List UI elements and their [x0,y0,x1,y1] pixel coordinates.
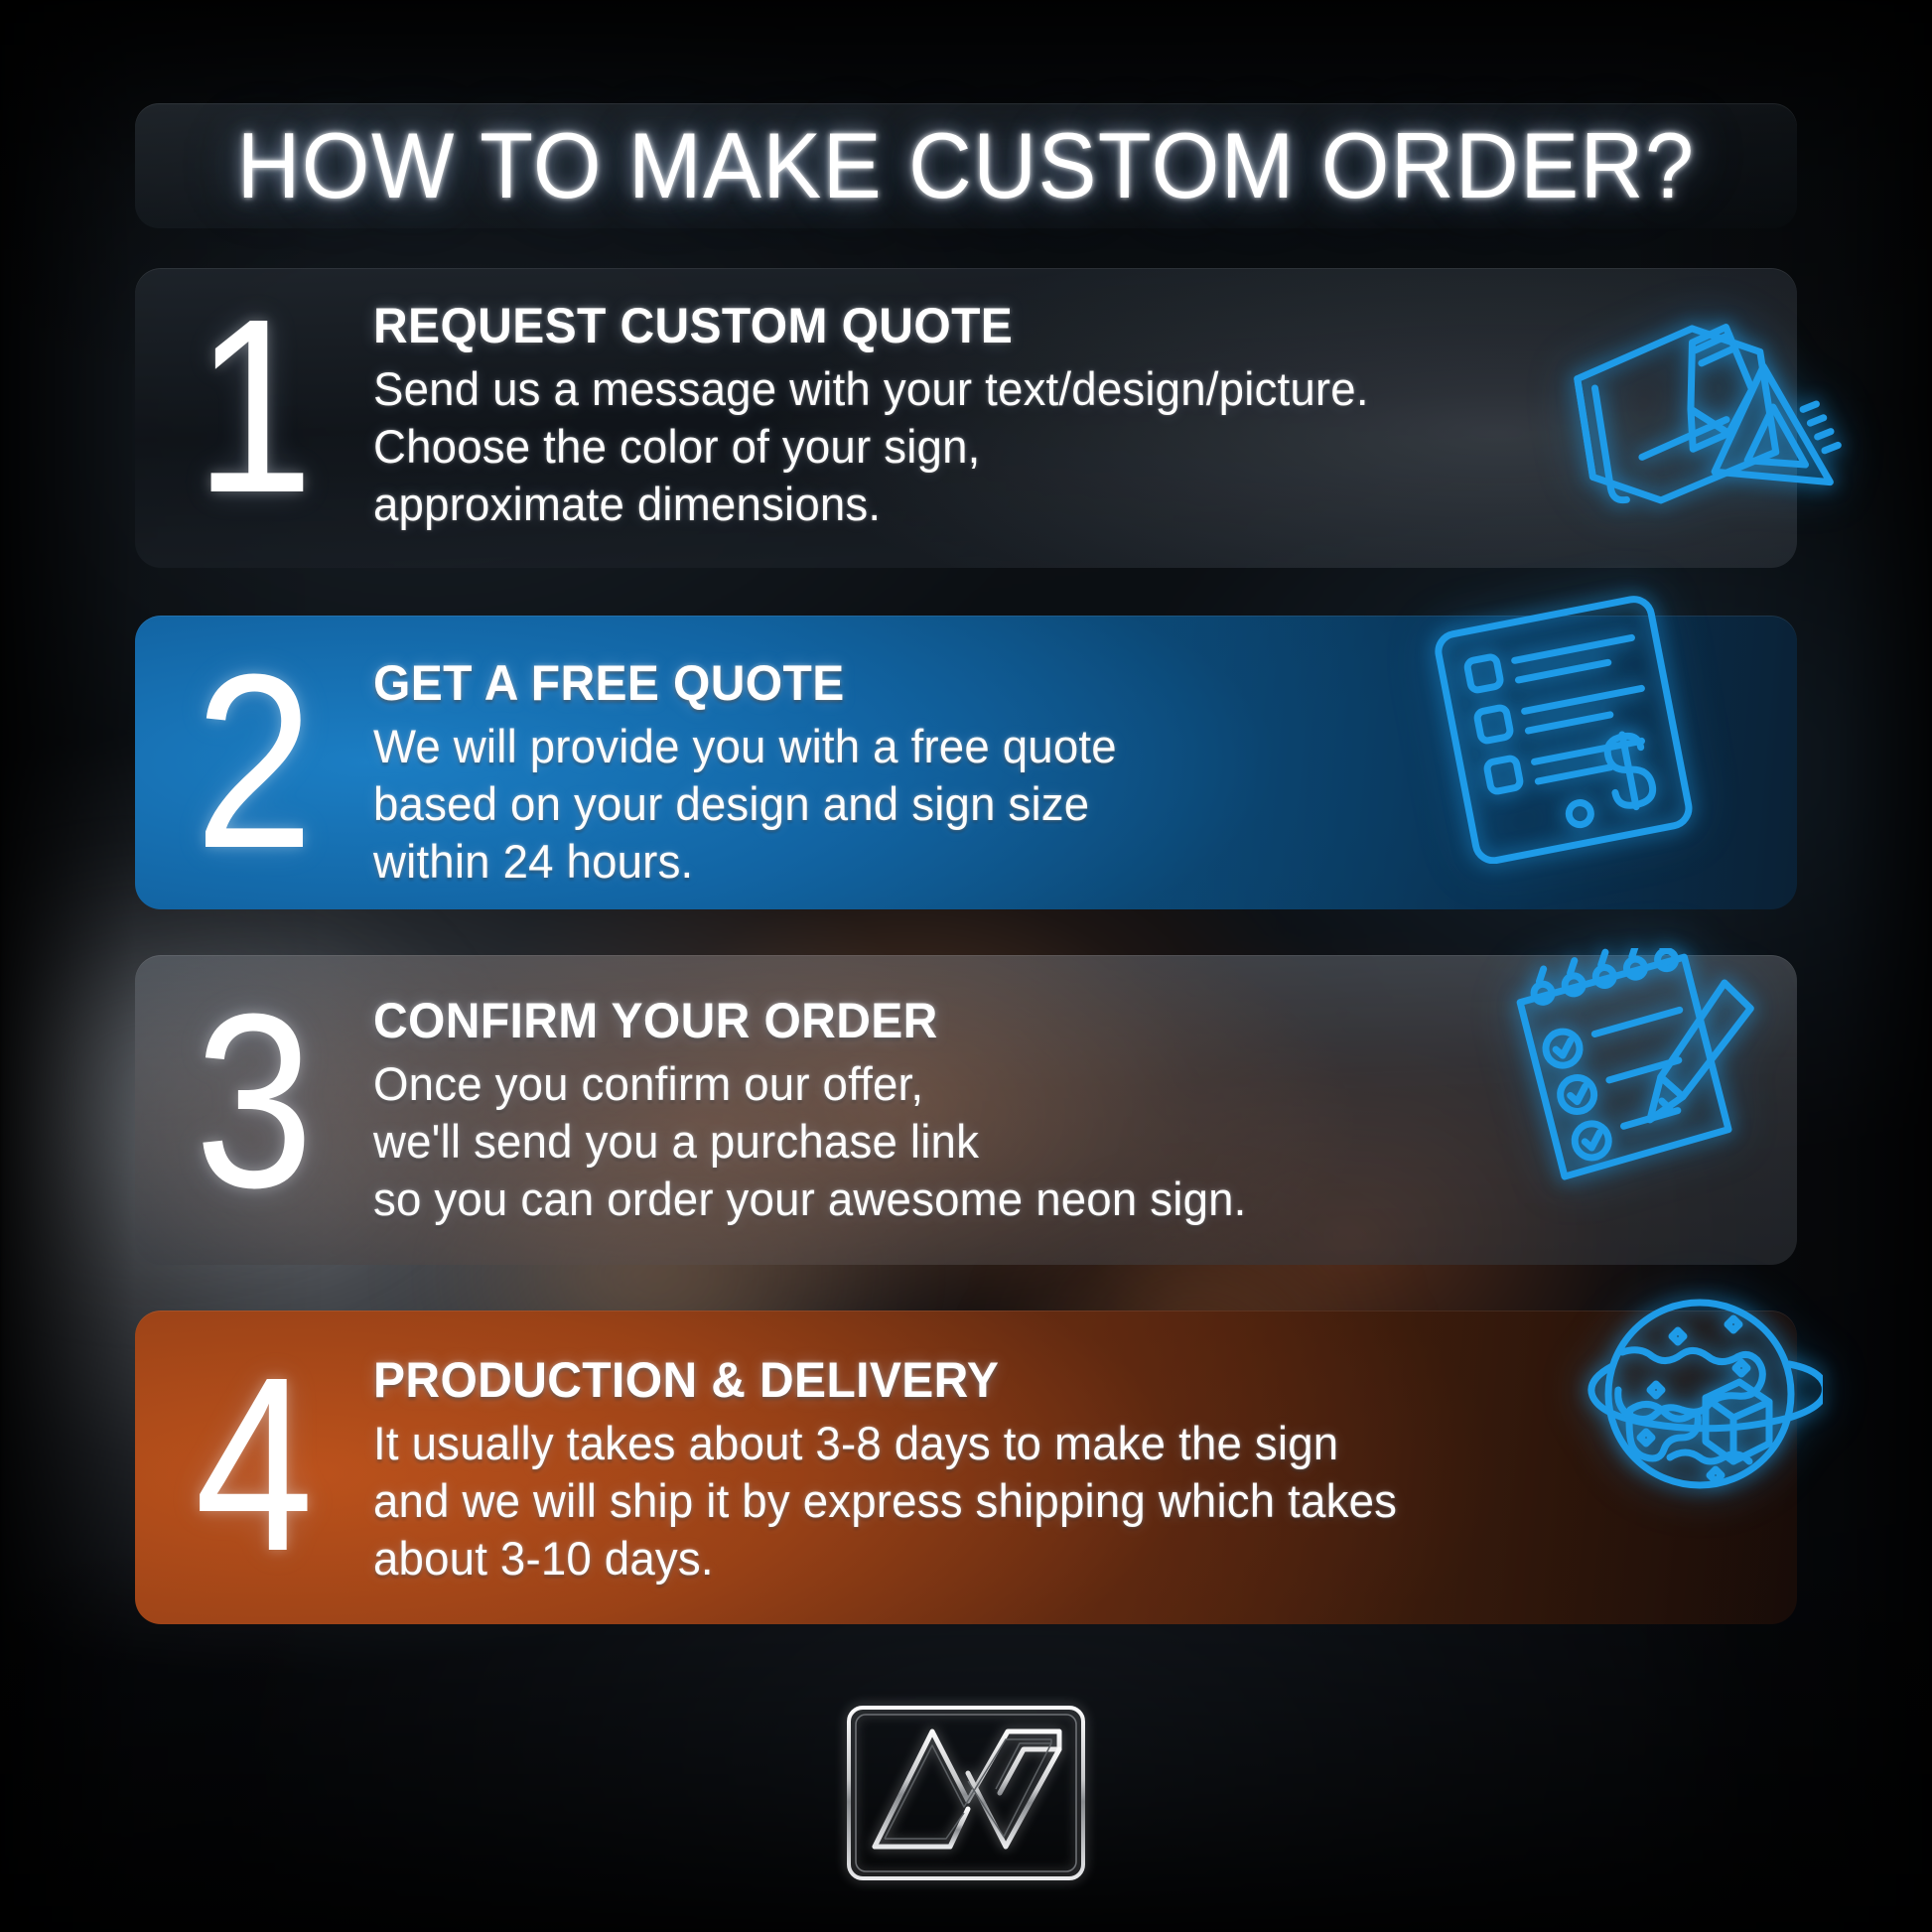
step-3-title: CONFIRM YOUR ORDER [373,991,1712,1050]
step-1-title: REQUEST CUSTOM QUOTE [373,296,1712,355]
step-1-body: Send us a message with your text/design/… [373,360,1767,533]
step-card-4: 4 PRODUCTION & DELIVERY It usually takes… [135,1311,1797,1624]
step-1-body-line: Choose the color of your sign, [373,418,1725,476]
title-card: HOW TO MAKE CUSTOM ORDER? [135,103,1797,228]
step-card-3: 3 CONFIRM YOUR ORDER Once you confirm ou… [135,955,1797,1265]
step-2-body-line: based on your design and sign size [373,775,1725,833]
brand-logo [839,1698,1093,1888]
step-2-body-line: We will provide you with a free quote [373,718,1725,775]
poster-content: HOW TO MAKE CUSTOM ORDER? 1 REQUEST CUST… [135,0,1797,1932]
step-4-body-line: about 3-10 days. [373,1530,1725,1587]
step-3-body: Once you confirm our offer, we'll send y… [373,1055,1767,1228]
infographic-poster: HOW TO MAKE CUSTOM ORDER? 1 REQUEST CUST… [0,0,1932,1932]
page-title: HOW TO MAKE CUSTOM ORDER? [185,105,1747,226]
step-card-1: 1 REQUEST CUSTOM QUOTE Send us a message… [135,268,1797,568]
step-1-text: REQUEST CUSTOM QUOTE Send us a message w… [373,296,1767,533]
step-3-body-line: so you can order your awesome neon sign. [373,1171,1725,1228]
step-2-body-line: within 24 hours. [373,833,1725,891]
step-4-text: PRODUCTION & DELIVERY It usually takes a… [373,1350,1767,1587]
step-number-2: 2 [160,637,347,886]
step-4-body-line: It usually takes about 3-8 days to make … [373,1415,1725,1472]
step-1-body-line: approximate dimensions. [373,476,1725,533]
step-3-body-line: Once you confirm our offer, [373,1055,1725,1113]
step-4-title: PRODUCTION & DELIVERY [373,1350,1712,1410]
step-2-title: GET A FREE QUOTE [373,653,1712,713]
neon-sign-brand-monogram-logo [839,1698,1093,1888]
step-3-text: CONFIRM YOUR ORDER Once you confirm our … [373,991,1767,1228]
step-2-body: We will provide you with a free quote ba… [373,718,1767,891]
step-4-body: It usually takes about 3-8 days to make … [373,1415,1767,1587]
step-card-2: 2 GET A FREE QUOTE We will provide you w… [135,616,1797,909]
step-3-body-line: we'll send you a purchase link [373,1113,1725,1171]
step-number-4: 4 [160,1340,347,1588]
step-2-text: GET A FREE QUOTE We will provide you wit… [373,653,1767,891]
step-1-body-line: Send us a message with your text/design/… [373,360,1725,418]
step-number-3: 3 [160,977,347,1225]
step-number-1: 1 [160,282,347,530]
step-4-body-line: and we will ship it by express shipping … [373,1472,1725,1530]
